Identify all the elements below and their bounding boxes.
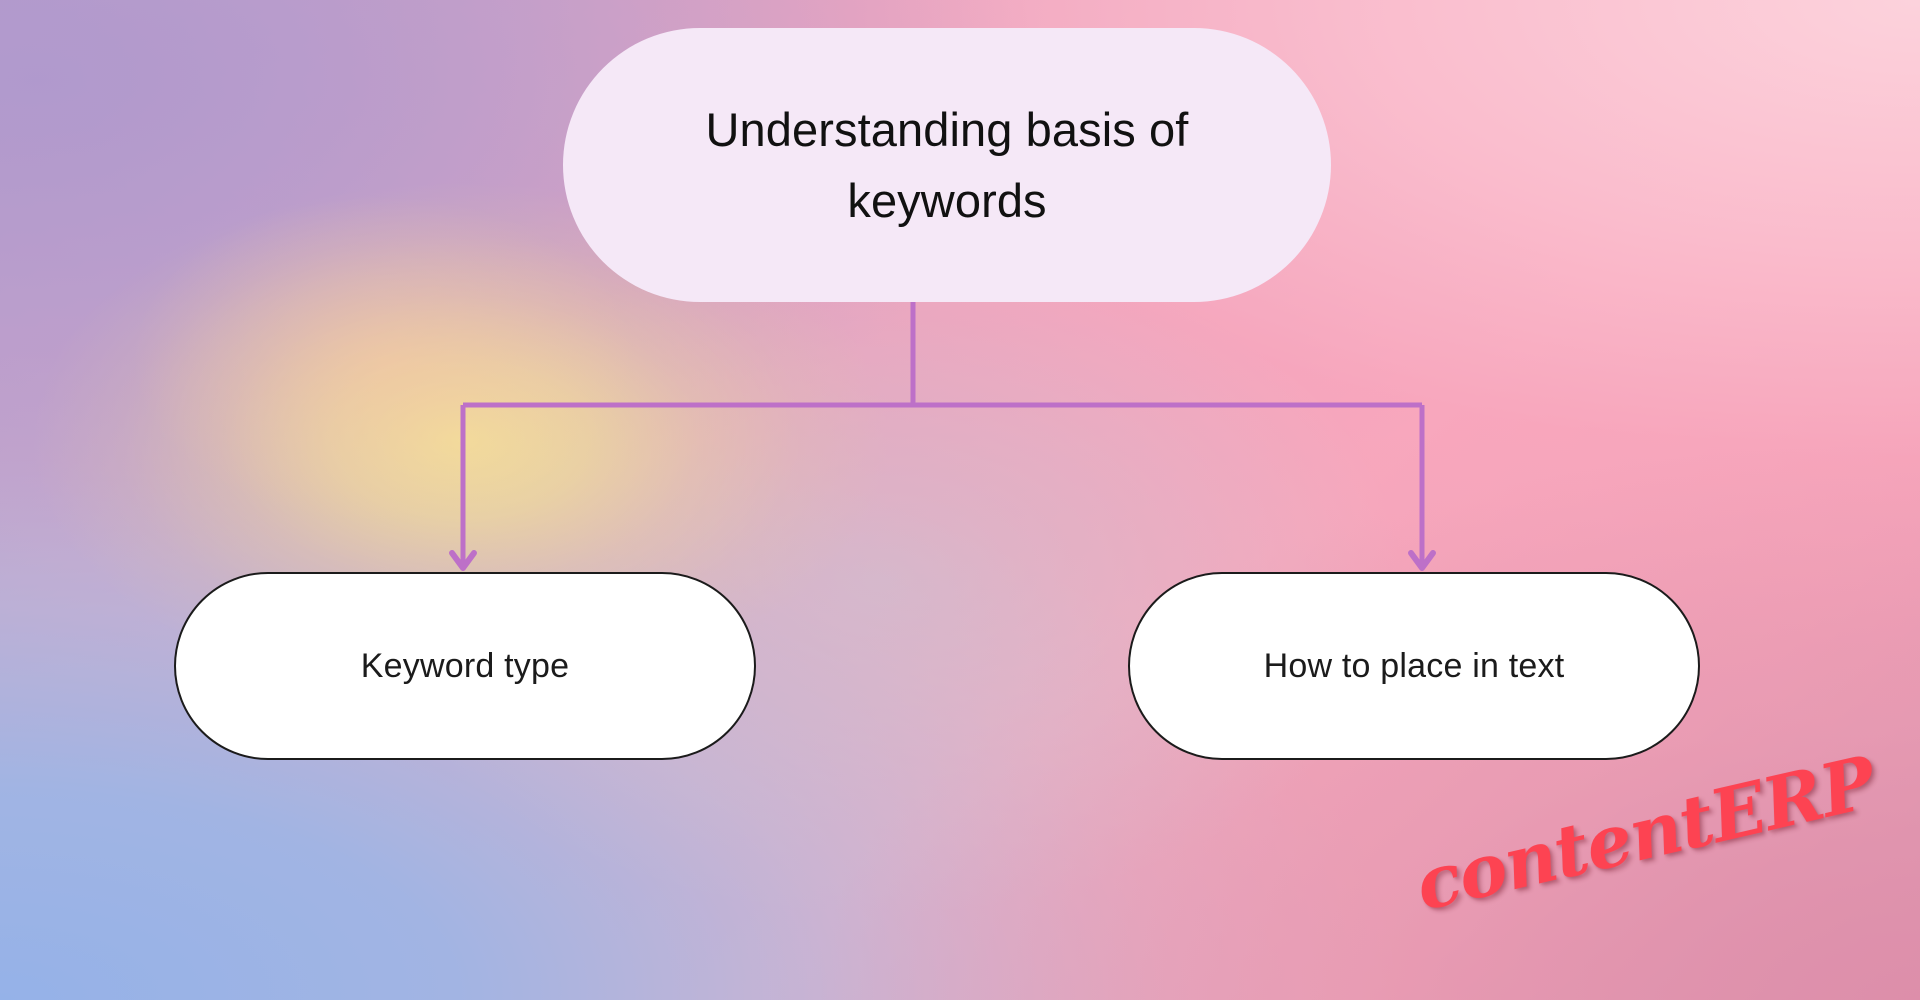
node-root-label: Understanding basis of keywords [631, 94, 1263, 237]
node-how-to-place-in-text-label: How to place in text [1264, 644, 1565, 688]
node-how-to-place-in-text[interactable]: How to place in text [1128, 572, 1700, 760]
node-root[interactable]: Understanding basis of keywords [563, 28, 1331, 302]
node-keyword-type[interactable]: Keyword type [174, 572, 756, 760]
node-keyword-type-label: Keyword type [361, 644, 569, 688]
diagram-canvas: Understanding basis of keywords Keyword … [0, 0, 1920, 1000]
